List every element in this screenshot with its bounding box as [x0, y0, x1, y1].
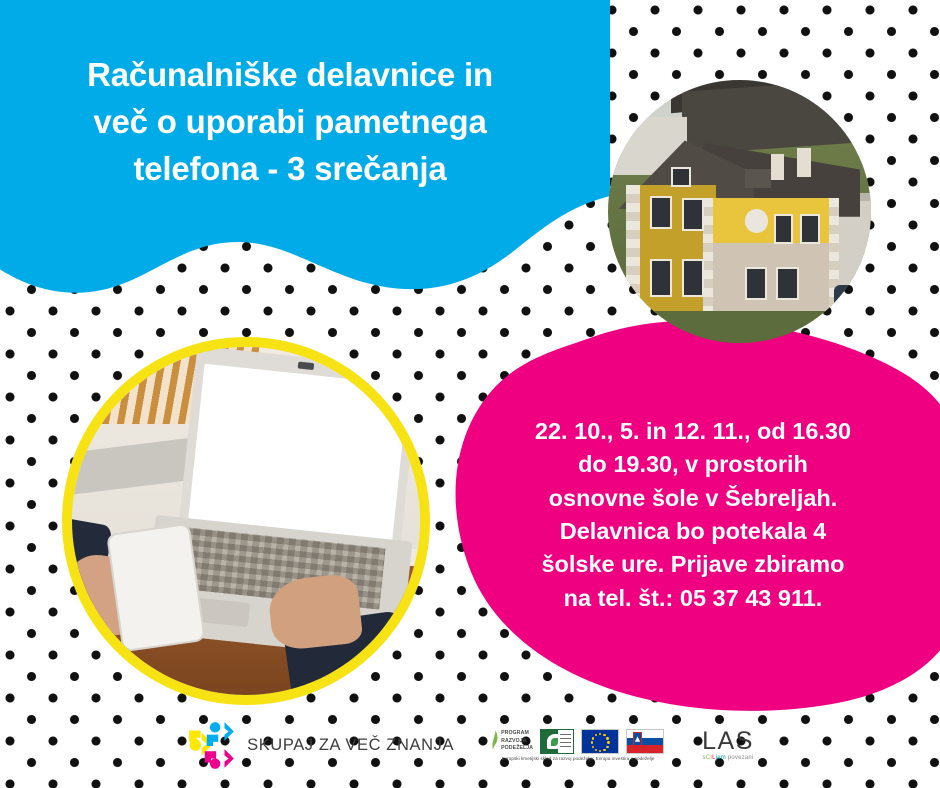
slovenia-flag-icon	[626, 729, 664, 754]
footer-logos: SKUPAJ ZA VEČ ZNANJA PROGRAM RAZVOJA POD…	[0, 710, 940, 780]
poster-title: Računalniške delavnice in več o uporabi …	[40, 52, 540, 193]
eu-flag-icon	[581, 729, 619, 754]
logo-eu-funding-group: PROGRAM RAZVOJA PODEŽELJA	[492, 729, 664, 761]
eu-funding-caption: Evropski kmetijski sklad za razvoj podež…	[502, 756, 655, 761]
laptop-phone-photo	[62, 337, 430, 705]
prp-label: PROGRAM RAZVOJA PODEŽELJA	[501, 730, 533, 753]
poster: Računalniške delavnice in več o uporabi …	[0, 0, 940, 788]
las-label: LAS	[702, 729, 754, 754]
logo-las: LAS sCILjem povezani	[702, 729, 754, 761]
prp-leaf-icon	[492, 730, 499, 750]
las-tagline: sCILjem povezani	[703, 755, 754, 761]
event-details-text: 22. 10., 5. in 12. 11., od 16.30 do 19.3…	[492, 415, 894, 615]
logo-skupaj-za-vec-znanja: SKUPAJ ZA VEČ ZNANJA	[186, 719, 454, 771]
school-building-photo	[608, 80, 871, 343]
rural-development-leaf-icon	[540, 729, 574, 754]
program-razvoja-podezelja-logo: PROGRAM RAZVOJA PODEŽELJA	[492, 730, 533, 753]
skupaj-pinwheel-icon	[186, 719, 238, 771]
skupaj-label: SKUPAJ ZA VEČ ZNANJA	[247, 736, 454, 755]
